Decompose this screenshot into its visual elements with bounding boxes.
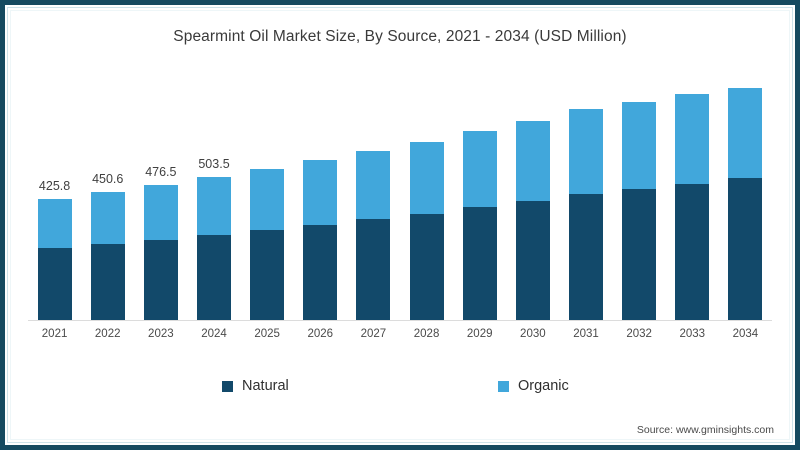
x-tick-2033: 2033	[662, 328, 722, 340]
x-tick-2030: 2030	[503, 328, 563, 340]
chart-legend: Natural Organic	[0, 378, 800, 402]
bar-segment-natural[interactable]	[675, 184, 709, 320]
bar-stack	[569, 109, 603, 320]
bar-segment-natural[interactable]	[91, 244, 125, 320]
x-tick-2029: 2029	[450, 328, 510, 340]
x-tick-2021: 2021	[25, 328, 85, 340]
bar-stack	[463, 131, 497, 320]
bar-segment-natural[interactable]	[516, 201, 550, 320]
bar-segment-natural[interactable]	[728, 178, 762, 320]
x-tick-2023: 2023	[131, 328, 191, 340]
x-tick-2028: 2028	[397, 328, 457, 340]
bar-stack	[516, 121, 550, 321]
bar-value-label-2024: 503.5	[179, 157, 249, 171]
bar-stack	[197, 177, 231, 320]
bar-segment-organic[interactable]	[356, 151, 390, 219]
bar-stack	[622, 102, 656, 320]
bar-stack	[356, 151, 390, 320]
bar-stack	[38, 199, 72, 320]
bar-segment-natural[interactable]	[569, 194, 603, 320]
legend-swatch-natural	[222, 381, 233, 392]
bar-stack	[91, 192, 125, 320]
legend-swatch-organic	[498, 381, 509, 392]
bar-segment-organic[interactable]	[197, 177, 231, 235]
bar-segment-natural[interactable]	[463, 207, 497, 320]
bar-segment-natural[interactable]	[356, 219, 390, 320]
x-tick-2034: 2034	[715, 328, 775, 340]
x-tick-2032: 2032	[609, 328, 669, 340]
bar-stack	[144, 185, 178, 320]
x-axis-tick-labels: 2021202220232024202520262027202820292030…	[28, 328, 772, 350]
bar-segment-natural[interactable]	[197, 235, 231, 320]
bar-segment-natural[interactable]	[622, 189, 656, 320]
x-tick-2022: 2022	[78, 328, 138, 340]
source-attribution: Source: www.gminsights.com	[637, 424, 774, 436]
plot-area: 425.8450.6476.5503.5	[28, 70, 772, 320]
x-tick-2025: 2025	[237, 328, 297, 340]
legend-label-organic: Organic	[518, 378, 569, 394]
bar-segment-natural[interactable]	[38, 248, 72, 320]
x-tick-2024: 2024	[184, 328, 244, 340]
x-axis-baseline	[28, 320, 772, 321]
legend-label-natural: Natural	[242, 378, 289, 394]
bar-segment-organic[interactable]	[250, 169, 284, 230]
bar-stack	[675, 94, 709, 320]
bar-segment-natural[interactable]	[250, 230, 284, 320]
legend-item-natural[interactable]: Natural	[222, 378, 289, 394]
x-tick-2027: 2027	[343, 328, 403, 340]
bar-segment-organic[interactable]	[38, 199, 72, 248]
bar-segment-organic[interactable]	[410, 142, 444, 214]
bar-segment-organic[interactable]	[728, 88, 762, 178]
bar-segment-organic[interactable]	[463, 131, 497, 207]
bar-segment-organic[interactable]	[91, 192, 125, 244]
x-tick-2026: 2026	[290, 328, 350, 340]
bar-segment-natural[interactable]	[144, 240, 178, 320]
bar-stack	[728, 88, 762, 320]
bar-segment-organic[interactable]	[516, 121, 550, 201]
legend-item-organic[interactable]: Organic	[498, 378, 569, 394]
chart-figure: Spearmint Oil Market Size, By Source, 20…	[0, 0, 800, 450]
bar-segment-organic[interactable]	[569, 109, 603, 194]
bar-segment-organic[interactable]	[144, 185, 178, 240]
chart-title: Spearmint Oil Market Size, By Source, 20…	[0, 28, 800, 46]
bar-segment-natural[interactable]	[303, 225, 337, 320]
bar-segment-organic[interactable]	[303, 160, 337, 225]
bar-segment-organic[interactable]	[622, 102, 656, 189]
bar-segment-natural[interactable]	[410, 214, 444, 320]
bar-stack	[410, 142, 444, 320]
bar-stack	[303, 160, 337, 320]
bar-segment-organic[interactable]	[675, 94, 709, 184]
x-tick-2031: 2031	[556, 328, 616, 340]
bar-stack	[250, 169, 284, 320]
